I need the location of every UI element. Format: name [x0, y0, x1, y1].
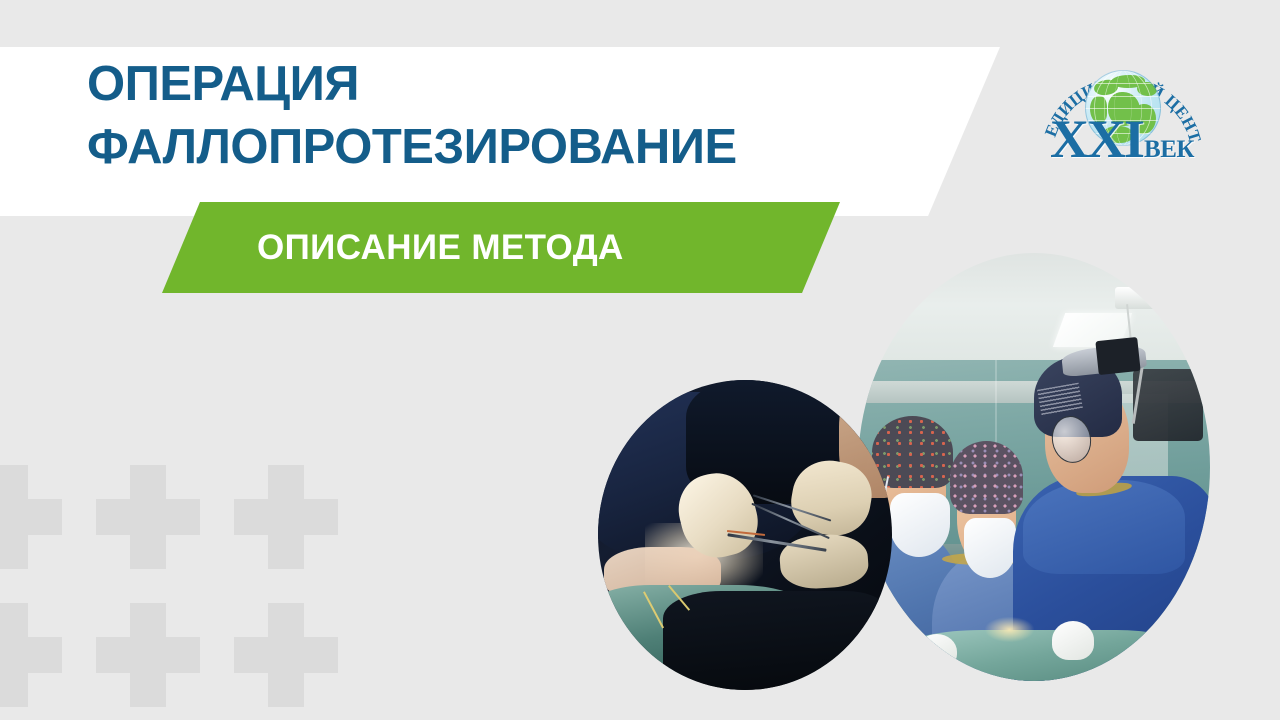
presentation-slide: ОПЕРАЦИЯ ФАЛЛОПРОТЕЗИРОВАНИЕ ОПИСАНИЕ МЕ…	[0, 0, 1280, 720]
cross-icon	[234, 603, 338, 707]
surgeon-middle-cap	[950, 441, 1024, 514]
operating-room-scene	[858, 253, 1210, 681]
title-line-1: ОПЕРАЦИЯ	[87, 60, 947, 109]
surgical-lamp	[1115, 287, 1161, 308]
gloved-hand	[918, 634, 957, 668]
cross-icon	[96, 603, 200, 707]
cross-icon	[0, 465, 62, 569]
field-illumination	[985, 617, 1034, 643]
page-title: ОПЕРАЦИЯ ФАЛЛОПРОТЕЗИРОВАНИЕ	[87, 60, 947, 172]
subtitle-banner: ОПИСАНИЕ МЕТОДА	[162, 202, 840, 293]
cross-icon	[234, 465, 338, 569]
clinic-logo: МЕДИЦИНСКИЙ ЦЕНТР XXI ВЕК	[1038, 48, 1206, 170]
operating-room-photo	[858, 253, 1210, 681]
logo-xxi-text: XXI	[1050, 112, 1143, 166]
logo-vek-text: ВЕК	[1144, 137, 1194, 162]
title-card: ОПЕРАЦИЯ ФАЛЛОПРОТЕЗИРОВАНИЕ	[0, 47, 1000, 216]
logo-wordmark: XXI ВЕК	[1038, 112, 1206, 164]
subtitle-label: ОПИСАНИЕ МЕТОДА	[257, 228, 624, 268]
surgical-field-photo	[598, 380, 892, 690]
title-line-2: ФАЛЛОПРОТЕЗИРОВАНИЕ	[87, 123, 947, 172]
cross-icon	[0, 603, 62, 707]
medical-equipment	[1133, 369, 1203, 442]
surgeon-left-mask	[890, 493, 950, 557]
surgical-loupe-housing	[1096, 336, 1142, 374]
ceiling	[858, 253, 1210, 369]
cross-icon	[96, 465, 200, 569]
medical-cross-pattern	[0, 455, 360, 720]
gloved-hand	[1052, 621, 1094, 660]
surgical-field-scene	[598, 380, 892, 690]
dark-drape	[663, 591, 886, 690]
